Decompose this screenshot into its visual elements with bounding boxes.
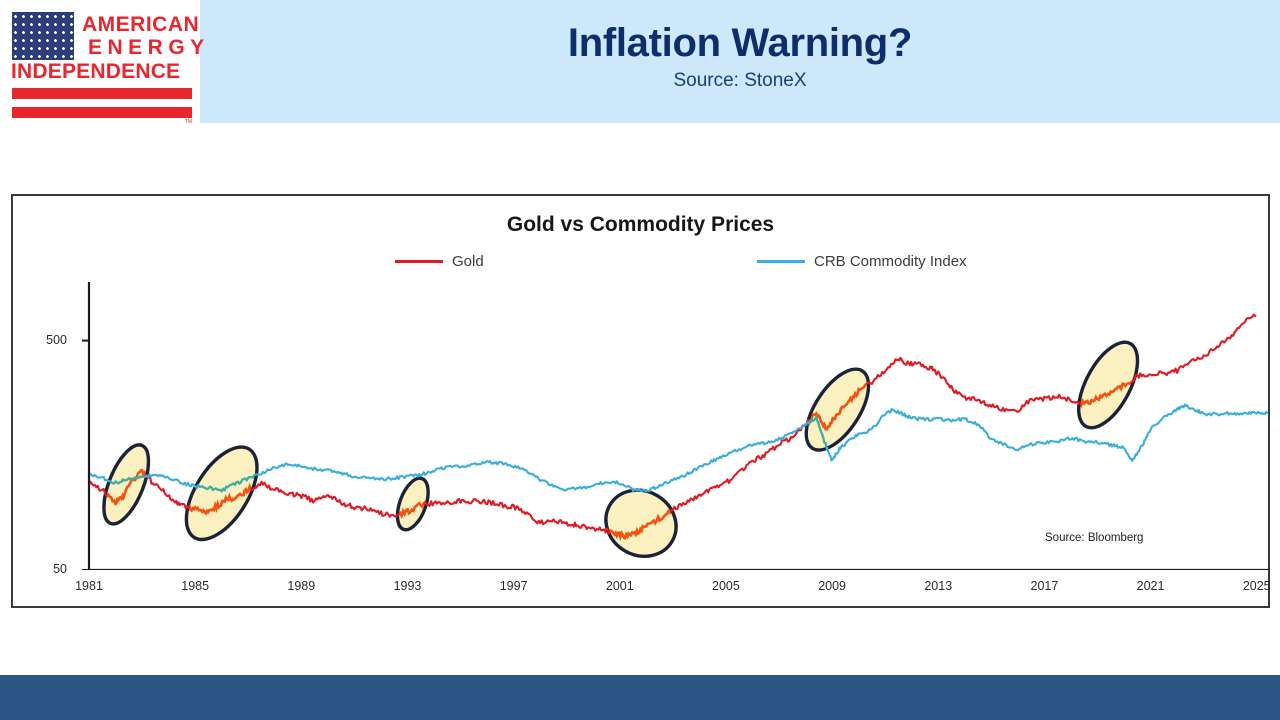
highlight-ellipse — [794, 359, 881, 460]
legend-label-gold: Gold — [452, 254, 484, 269]
logo-line-independence: INDEPENDENCE — [11, 61, 180, 82]
logo-line-energy: ENERGY — [88, 37, 210, 58]
y-axis-tick-label: 500 — [23, 333, 67, 347]
slide-subtitle-source: Source: StoneX — [673, 70, 806, 92]
legend-swatch-crb-icon — [757, 260, 805, 263]
x-axis-tick-label: 2017 — [1024, 579, 1064, 593]
legend-item-crb: CRB Commodity Index — [757, 254, 967, 269]
x-axis-tick-label: 2005 — [706, 579, 746, 593]
legend-swatch-gold-icon — [395, 260, 443, 263]
trademark-mark: TM — [185, 119, 192, 125]
flag-stars-icon — [12, 12, 74, 60]
series-line-gold — [89, 315, 1255, 538]
chart-plot-svg — [78, 282, 1270, 570]
brand-logo: AMERICAN ENERGY INDEPENDENCE TM — [0, 0, 200, 123]
flag-stripe-icon — [12, 88, 192, 99]
chart-legend: Gold CRB Commodity Index — [13, 254, 1268, 274]
x-axis-tick-label: 1993 — [387, 579, 427, 593]
slide-header: AMERICAN ENERGY INDEPENDENCE TM Inflatio… — [0, 0, 1280, 123]
x-axis-tick-label: 1981 — [69, 579, 109, 593]
slide-footer-bar — [0, 675, 1280, 720]
y-axis-tick-label: 50 — [23, 562, 67, 576]
highlight-ellipse — [172, 435, 271, 551]
highlight-ellipse — [95, 439, 158, 530]
series-line-gold-highlighted — [89, 315, 1255, 538]
legend-label-crb: CRB Commodity Index — [814, 254, 967, 269]
x-axis-tick-label: 2021 — [1131, 579, 1171, 593]
x-axis-tick-label: 2025 — [1237, 579, 1277, 593]
flag-stripe-icon — [12, 107, 192, 118]
x-axis-tick-label: 1985 — [175, 579, 215, 593]
chart-title: Gold vs Commodity Prices — [13, 213, 1268, 237]
x-axis-tick-label: 2013 — [918, 579, 958, 593]
x-axis-tick-label: 1997 — [494, 579, 534, 593]
x-axis-tick-label: 2001 — [600, 579, 640, 593]
x-axis-tick-label: 1989 — [281, 579, 321, 593]
logo-line-american: AMERICAN — [82, 14, 199, 35]
slide-title: Inflation Warning? — [568, 22, 912, 64]
legend-item-gold: Gold — [395, 254, 484, 269]
x-axis-tick-label: 2009 — [812, 579, 852, 593]
highlight-ellipse — [1067, 333, 1150, 437]
plot-area — [78, 282, 1270, 570]
title-block: Inflation Warning? Source: StoneX — [200, 0, 1280, 123]
chart-container: Gold vs Commodity Prices Gold CRB Commod… — [11, 194, 1270, 608]
chart-source-note: Source: Bloomberg — [1045, 532, 1143, 544]
